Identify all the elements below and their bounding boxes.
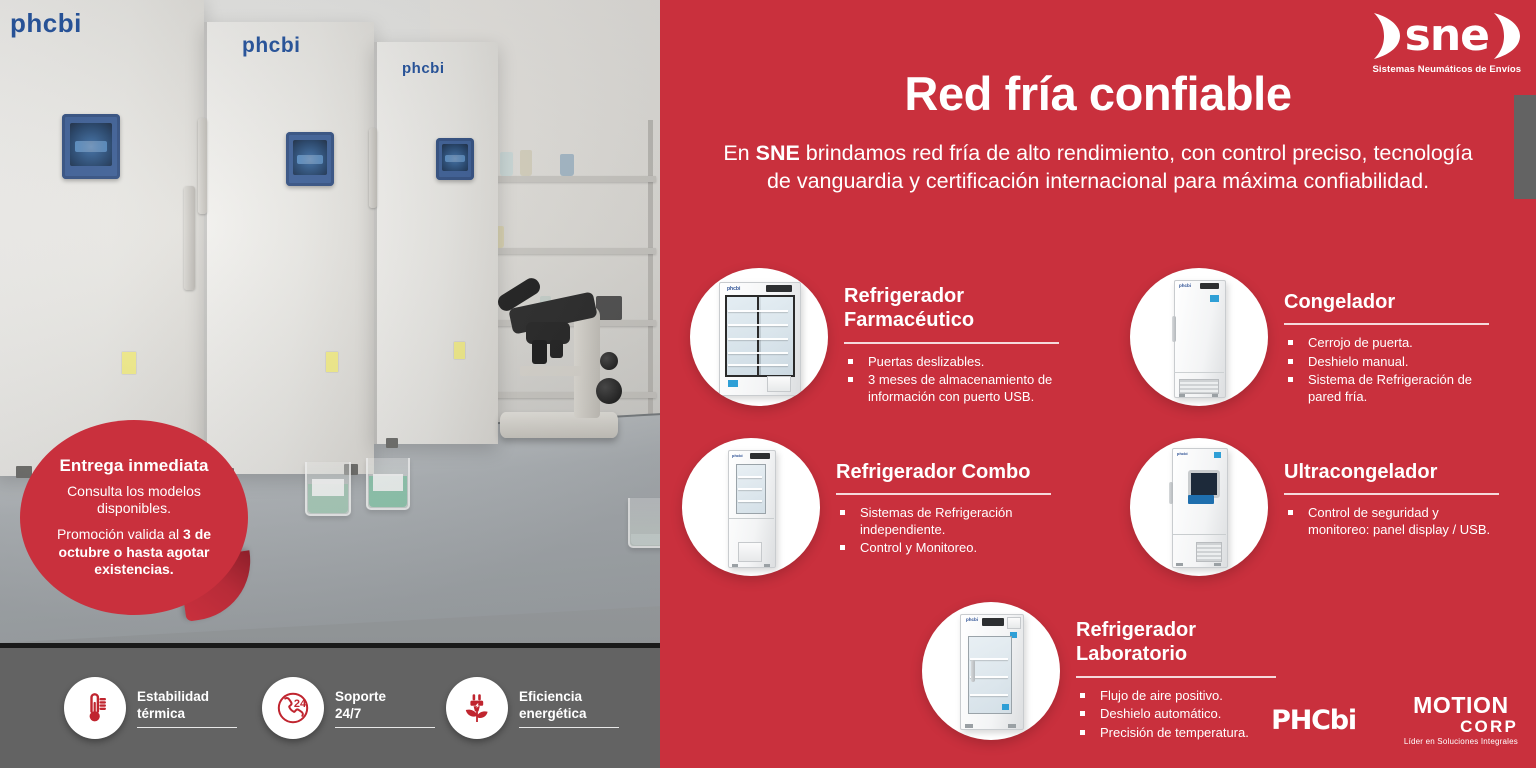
product-bullet-4-0: Flujo de aire positivo.: [1076, 688, 1276, 704]
feature-1-line2: 24/7: [335, 705, 435, 722]
feature-2-rule: [519, 727, 619, 728]
combo-fridge-illustration: phcbi: [728, 450, 774, 566]
product-bullet-2-0: Sistemas de Refrigeración independiente.: [836, 505, 1051, 538]
lf-control-strip: [982, 618, 1004, 626]
uf-foot-r: [1214, 563, 1221, 566]
left-photo-panel: phcbi phcbi: [0, 0, 660, 768]
badge-heading: Entrega inmediata: [59, 456, 208, 476]
right-edge-gray-tab: [1514, 95, 1536, 199]
cb-shelf-3: [738, 500, 762, 502]
product-card-0[interactable]: phcbi RefrigeradorFarmacéutico: [690, 268, 1090, 407]
lf-shelf-1: [970, 658, 1008, 660]
badge-line1: Consulta los modelos disponibles.: [32, 483, 236, 517]
fz-vent-grill: [1179, 379, 1219, 394]
product-rule-3: [1284, 493, 1499, 495]
lf-foot-r: [1008, 724, 1016, 728]
phcbi-logo: PHCbi: [1271, 705, 1356, 736]
cb-shelf-2: [738, 488, 762, 490]
cb-foot-l: [732, 564, 738, 567]
pf-brand: phcbi: [727, 286, 740, 292]
feature-1-line1: Soporte: [335, 688, 435, 705]
cb-mid-seam: [728, 518, 774, 519]
product-title-1: Congelador: [1284, 290, 1489, 314]
feature-2-line1: Eficiencia: [519, 688, 619, 705]
lf-top-right-box: [1007, 617, 1021, 629]
product-bullet-0-1: 3 meses de almacenamiento de información…: [844, 372, 1059, 405]
fz-handle: [1172, 316, 1176, 342]
motion-corp-logo: MOTION CORP Líder en Soluciones Integral…: [1404, 694, 1518, 746]
product-bullet-1-2: Sistema de Refrigeración de pared fría.: [1284, 372, 1489, 405]
pf-blue-badge: [728, 380, 738, 387]
motion-logo-line2: CORP: [1404, 718, 1518, 735]
badge-text-block: Entrega inmediata Consulta los modelos d…: [20, 420, 248, 615]
uf-display-blue-bar: [1188, 495, 1214, 504]
motion-logo-line1: MOTION: [1404, 694, 1518, 717]
pf-shelf-2: [728, 324, 788, 326]
product-info-1: Congelador Cerrojo de puerta. Deshielo m…: [1284, 268, 1489, 407]
product-title-0-line2: Farmacéutico: [844, 309, 974, 331]
lab-fridge-illustration: phcbi: [960, 614, 1022, 728]
fz-foot-l: [1179, 394, 1185, 397]
product-title-0-line1: Refrigerador: [844, 285, 964, 307]
feature-0-line1: Estabilidad: [137, 688, 237, 705]
lf-foot-l: [965, 724, 973, 728]
freezer-illustration: phcbi: [1174, 280, 1224, 396]
product-image-2: phcbi: [682, 438, 820, 576]
badge-line2: Promoción valida al 3 de octubre o hasta…: [32, 526, 236, 579]
hero-subtitle: En SNE brindamos red fría de alto rendim…: [713, 139, 1483, 196]
cb-lower-drawer: [738, 542, 762, 562]
uf-handle: [1169, 482, 1173, 504]
product-rule-1: [1284, 323, 1489, 325]
product-bullet-4-2: Precisión de temperatura.: [1076, 725, 1276, 741]
pf-control-strip: [766, 285, 792, 292]
product-rule-4: [1076, 676, 1276, 678]
uf-vent-grill: [1196, 542, 1222, 562]
thermometer-icon: [64, 677, 126, 739]
product-card-1[interactable]: phcbi Congelador Cerrojo de puerta. Desh…: [1130, 268, 1530, 407]
feature-1-text: Soporte 24/7: [335, 688, 435, 729]
product-title-0: RefrigeradorFarmacéutico: [844, 284, 1059, 333]
cb-control-strip: [750, 453, 770, 459]
product-image-3: phcbi: [1130, 438, 1268, 576]
infographic-canvas: phcbi phcbi: [0, 0, 1536, 768]
page-title: Red fría confiable: [660, 66, 1536, 121]
product-rule-0: [844, 342, 1059, 344]
product-info-3: Ultracongelador Control de seguridad y m…: [1284, 438, 1499, 540]
pf-shelf-4: [728, 352, 788, 354]
lf-shelf-3: [970, 694, 1008, 696]
sne-wordmark: sne: [1405, 14, 1489, 58]
product-info-0: RefrigeradorFarmacéutico Puertas desliza…: [844, 268, 1059, 407]
product-bullet-2-1: Control y Monitoreo.: [836, 540, 1051, 556]
product-title-4-line1: Refrigerador: [1076, 619, 1196, 641]
product-bullet-3-0: Control de seguridad y monitoreo: panel …: [1284, 505, 1499, 538]
fz-control-strip: [1200, 283, 1219, 289]
uf-brand: phcbi: [1177, 451, 1188, 456]
pf-shelf-5: [728, 364, 788, 366]
product-title-4-line2: Laboratorio: [1076, 643, 1187, 665]
product-info-4: RefrigeradorLaboratorio Flujo de aire po…: [1076, 602, 1276, 743]
cb-shelf-1: [738, 476, 762, 478]
badge-line2-pre: Promoción valida al: [57, 526, 183, 542]
product-bullet-4-1: Deshielo automático.: [1076, 706, 1276, 722]
product-image-1: phcbi: [1130, 268, 1268, 406]
right-content-panel: sne Sistemas Neumáticos de Envíos Red fr…: [660, 0, 1536, 768]
fz-blue-badge: [1210, 295, 1219, 302]
feature-1-rule: [335, 727, 435, 728]
sne-logo-row: sne: [1372, 10, 1522, 62]
product-bullet-0-0: Puertas deslizables.: [844, 354, 1059, 370]
hero-block: Red fría confiable En SNE brindamos red …: [660, 66, 1536, 196]
svg-text:24: 24: [294, 698, 307, 710]
uf-mid-seam: [1172, 534, 1226, 535]
fz-brand: phcbi: [1179, 283, 1191, 288]
product-title-4: RefrigeradorLaboratorio: [1076, 618, 1276, 667]
product-info-2: Refrigerador Combo Sistemas de Refrigera…: [836, 438, 1051, 559]
footer-logos: PHCbi MOTION CORP Líder en Soluciones In…: [1271, 694, 1518, 746]
feature-item-1: 24 Soporte 24/7: [262, 677, 435, 739]
product-bullet-1-0: Cerrojo de puerta.: [1284, 335, 1489, 351]
promo-badge[interactable]: Entrega inmediata Consulta los modelos d…: [20, 420, 248, 615]
badge-line2-post: o hasta agotar existencias.: [94, 544, 209, 578]
product-bullets-3: Control de seguridad y monitoreo: panel …: [1284, 505, 1499, 538]
cb-brand: phcbi: [732, 453, 743, 458]
ultrafreezer-illustration: phcbi: [1172, 448, 1226, 566]
uf-blue-badge: [1214, 452, 1221, 458]
hero-subtitle-pre: En: [723, 141, 755, 165]
feature-2-line2: energética: [519, 705, 619, 722]
uf-foot-l: [1176, 563, 1183, 566]
product-bullets-2: Sistemas de Refrigeración independiente.…: [836, 505, 1051, 556]
sne-right-crescent-icon: [1492, 10, 1522, 62]
product-title-2: Refrigerador Combo: [836, 460, 1051, 484]
product-image-4: phcbi: [922, 602, 1060, 740]
lf-blue-badge-2: [1002, 704, 1009, 710]
fz-door-seam: [1174, 372, 1224, 373]
product-bullets-4: Flujo de aire positivo. Deshielo automát…: [1076, 688, 1276, 741]
pf-shelf-3: [728, 338, 788, 340]
cb-foot-r: [764, 564, 770, 567]
feature-0-text: Estabilidad térmica: [137, 688, 237, 729]
hero-subtitle-brand: SNE: [756, 141, 800, 165]
feature-0-rule: [137, 727, 237, 728]
product-bullets-1: Cerrojo de puerta. Deshielo manual. Sist…: [1284, 335, 1489, 405]
feature-0-line2: térmica: [137, 705, 237, 722]
hero-subtitle-post: brindamos red fría de alto rendimiento, …: [767, 141, 1473, 193]
product-bullets-0: Puertas deslizables. 3 meses de almacena…: [844, 354, 1059, 405]
pf-lower-drawer: [767, 376, 791, 392]
lf-handle: [971, 660, 975, 682]
feature-item-0: Estabilidad térmica: [64, 677, 237, 739]
plug-leaf-icon: [446, 677, 508, 739]
motion-logo-tagline: Líder en Soluciones Integrales: [1404, 738, 1518, 746]
product-image-0: phcbi: [690, 268, 828, 406]
lf-brand: phcbi: [966, 617, 978, 622]
product-card-2[interactable]: phcbi Refrigerador Combo Sistemas de Ref…: [682, 438, 1082, 576]
lf-shelf-2: [970, 676, 1008, 678]
product-bullet-1-1: Deshielo manual.: [1284, 354, 1489, 370]
phone-24-7-icon: 24: [262, 677, 324, 739]
sne-left-crescent-icon: [1372, 10, 1402, 62]
product-card-3[interactable]: phcbi Ultracongelador Control de segurid…: [1130, 438, 1530, 576]
feature-item-2: Eficiencia energética: [446, 677, 619, 739]
product-title-3: Ultracongelador: [1284, 460, 1499, 484]
features-bar: Estabilidad térmica 24 Sopor: [0, 648, 660, 768]
uf-display-panel: [1188, 470, 1220, 498]
fz-foot-r: [1212, 394, 1218, 397]
product-card-4[interactable]: phcbi RefrigeradorLaboratorio: [922, 602, 1322, 743]
pf-shelf-1: [728, 310, 788, 312]
pharma-fridge-illustration: phcbi: [719, 282, 799, 394]
feature-2-text: Eficiencia energética: [519, 688, 619, 729]
product-rule-2: [836, 493, 1051, 495]
